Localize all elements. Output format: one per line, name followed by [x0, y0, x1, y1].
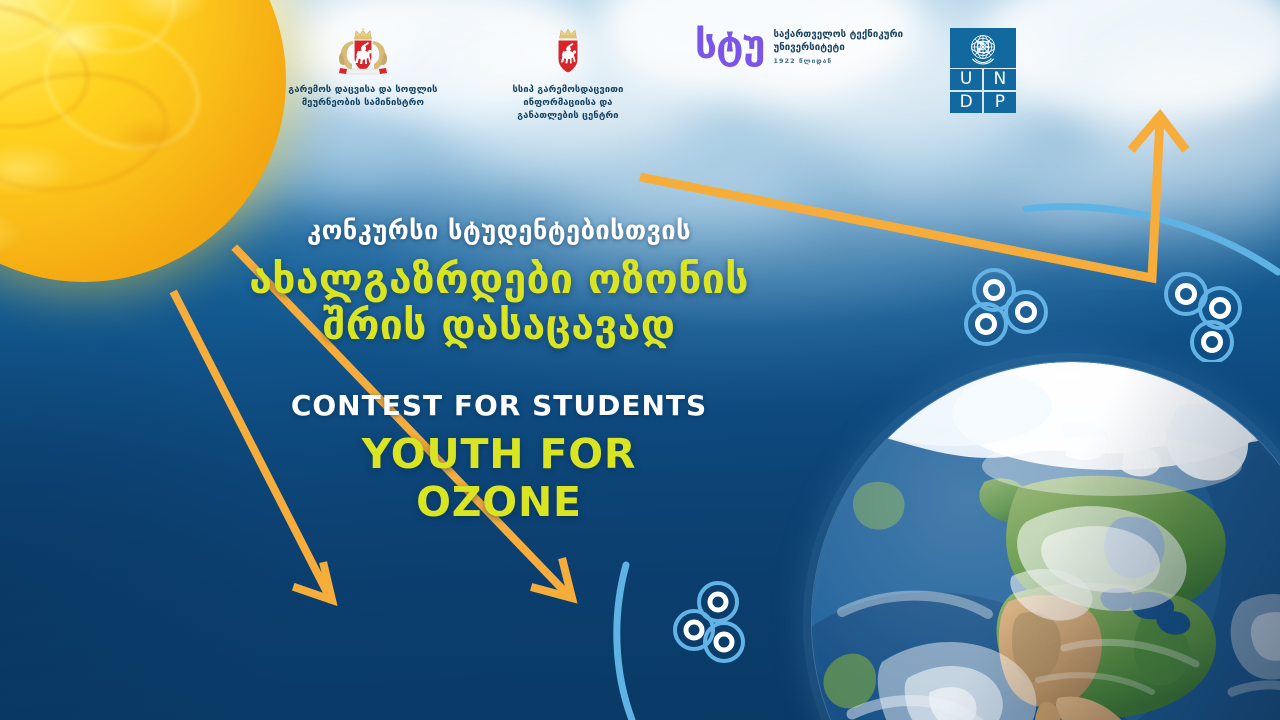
gtu-wordmark: სტუ	[695, 28, 765, 64]
logo-ministry-caption-line2: მეურნეობის სამინისტრო	[288, 97, 437, 110]
logo-ministry-caption: გარემოს დაცვისა და სოფლის მეურნეობის სამ…	[288, 84, 437, 110]
undp-letter-p: P	[984, 92, 1016, 113]
logo-environmental-education-centre: სსიპ გარემოსდაცვითი ინფორმაციისა და განა…	[475, 28, 661, 122]
undp-letter-n: N	[984, 69, 1016, 90]
gtu-name-line1: საქართველოს ტექნიკური	[773, 28, 903, 41]
headline-ka-title: ახალგაზრდები ოზონის შრის დასაცავად	[0, 256, 998, 349]
logo-siia-caption-line3: განათლების ცენტრი	[512, 110, 623, 123]
headline-en-subtitle: CONTEST FOR STUDENTS	[0, 389, 998, 423]
logo-undp: U N D P	[947, 28, 1019, 113]
gtu-name-line2: უნივერსიტეტი	[773, 41, 903, 54]
logo-georgian-technical-university: სტუ საქართველოს ტექნიკური უნივერსიტეტი 1…	[681, 28, 917, 65]
gtu-founded-year: 1922 წლიდან	[773, 57, 903, 65]
undp-letter-grid: U N D P	[950, 69, 1016, 112]
undp-letter-u: U	[950, 69, 982, 90]
poster-canvas: გარემოს დაცვისა და სოფლის მეურნეობის სამ…	[0, 0, 1280, 720]
ozone-layer-arc-bottom	[617, 565, 632, 720]
logo-siia-caption-line1: სსიპ გარემოსდაცვითი	[512, 84, 623, 97]
headline-en-title: YOUTH FOR OZONE	[0, 430, 998, 527]
headline-ka-subtitle: კონკურსი სტუდენტებისთვის	[0, 216, 998, 247]
headline-en-title-line2: OZONE	[0, 478, 998, 526]
logo-siia-caption-line2: ინფორმაციისა და	[512, 97, 623, 110]
partner-logo-bar: გარემოს დაცვისა და სოფლის მეურნეობის სამ…	[0, 28, 1280, 132]
logo-siia-caption: სსიპ გარემოსდაცვითი ინფორმაციისა და განა…	[512, 84, 623, 122]
georgia-shield-crest-icon	[550, 28, 586, 78]
logo-ministry-of-environment: გარემოს დაცვისა და სოფლის მეურნეობის სამ…	[261, 28, 465, 110]
undp-letter-d: D	[950, 92, 982, 113]
headline-en-block: CONTEST FOR STUDENTS YOUTH FOR OZONE	[0, 389, 998, 526]
headline-ka-title-line2: შრის დასაცავად	[0, 302, 998, 349]
headline-ka-title-line1: ახალგაზრდები ოზონის	[0, 256, 998, 303]
un-emblem-icon	[950, 28, 1016, 68]
ozone-molecule-icon	[672, 580, 758, 666]
logo-ministry-caption-line1: გარემოს დაცვისა და სოფლის	[288, 84, 437, 97]
headline-en-title-line1: YOUTH FOR	[0, 430, 998, 478]
georgia-coat-of-arms-icon	[335, 28, 391, 78]
headline-block: კონკურსი სტუდენტებისთვის ახალგაზრდები ოზ…	[0, 216, 1280, 526]
